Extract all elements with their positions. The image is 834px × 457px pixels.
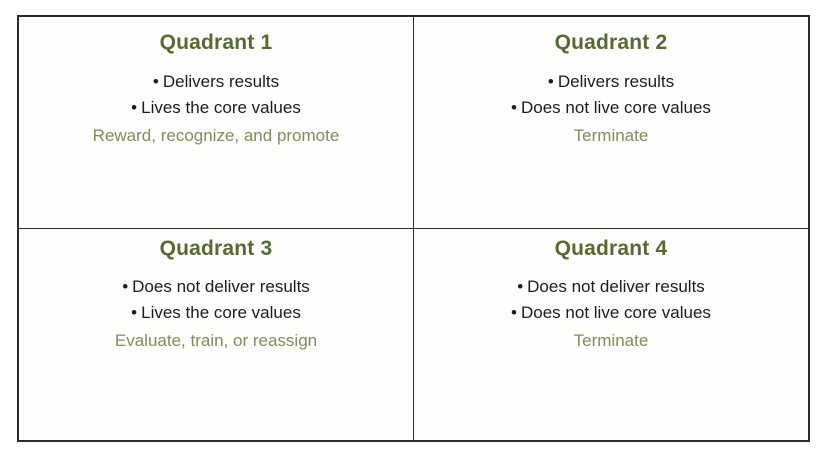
- quadrant-matrix-container: Quadrant 1 •Delivers results •Lives the …: [17, 15, 810, 442]
- quadrant-cell-4: Quadrant 4 •Does not deliver results •Do…: [414, 229, 810, 442]
- bullet-icon: •: [517, 274, 523, 300]
- criteria-text: Lives the core values: [141, 303, 301, 322]
- quadrant-cell-2: Quadrant 2 •Delivers results •Does not l…: [414, 16, 810, 229]
- criteria-item: •Delivers results: [29, 69, 403, 95]
- criteria-text: Does not live core values: [521, 98, 711, 117]
- quadrant-4-content: Quadrant 4 •Does not deliver results •Do…: [414, 229, 808, 354]
- criteria-text: Delivers results: [558, 72, 674, 91]
- criteria-item: •Does not live core values: [424, 95, 798, 121]
- quadrant-cell-3: Quadrant 3 •Does not deliver results •Li…: [18, 229, 414, 442]
- quadrant-matrix-table: Quadrant 1 •Delivers results •Lives the …: [17, 15, 810, 442]
- criteria-item: •Does not live core values: [424, 300, 798, 326]
- criteria-item: •Does not deliver results: [424, 274, 798, 300]
- quadrant-4-action: Terminate: [424, 328, 798, 354]
- bullet-icon: •: [511, 95, 517, 121]
- quadrant-2-content: Quadrant 2 •Delivers results •Does not l…: [414, 17, 808, 149]
- quadrant-3-content: Quadrant 3 •Does not deliver results •Li…: [19, 229, 413, 354]
- quadrant-1-title: Quadrant 1: [29, 31, 403, 55]
- quadrant-1-action: Reward, recognize, and promote: [29, 123, 403, 149]
- quadrant-4-title: Quadrant 4: [424, 237, 798, 261]
- bullet-icon: •: [131, 300, 137, 326]
- quadrant-3-title: Quadrant 3: [29, 237, 403, 261]
- bullet-icon: •: [131, 95, 137, 121]
- criteria-text: Does not deliver results: [132, 277, 310, 296]
- quadrant-3-action: Evaluate, train, or reassign: [29, 328, 403, 354]
- criteria-item: •Does not deliver results: [29, 274, 403, 300]
- quadrant-2-criteria-list: •Delivers results •Does not live core va…: [424, 69, 798, 121]
- quadrant-1-criteria-list: •Delivers results •Lives the core values: [29, 69, 403, 121]
- bullet-icon: •: [122, 274, 128, 300]
- bullet-icon: •: [511, 300, 517, 326]
- quadrant-3-criteria-list: •Does not deliver results •Lives the cor…: [29, 274, 403, 326]
- quadrant-2-title: Quadrant 2: [424, 31, 798, 55]
- matrix-row-bottom: Quadrant 3 •Does not deliver results •Li…: [18, 229, 809, 442]
- criteria-text: Does not live core values: [521, 303, 711, 322]
- criteria-item: •Lives the core values: [29, 300, 403, 326]
- criteria-text: Does not deliver results: [527, 277, 705, 296]
- quadrant-4-criteria-list: •Does not deliver results •Does not live…: [424, 274, 798, 326]
- matrix-row-top: Quadrant 1 •Delivers results •Lives the …: [18, 16, 809, 229]
- quadrant-1-content: Quadrant 1 •Delivers results •Lives the …: [19, 17, 413, 149]
- criteria-item: •Lives the core values: [29, 95, 403, 121]
- bullet-icon: •: [153, 69, 159, 95]
- bullet-icon: •: [548, 69, 554, 95]
- quadrant-2-action: Terminate: [424, 123, 798, 149]
- quadrant-cell-1: Quadrant 1 •Delivers results •Lives the …: [18, 16, 414, 229]
- criteria-text: Delivers results: [163, 72, 279, 91]
- criteria-text: Lives the core values: [141, 98, 301, 117]
- criteria-item: •Delivers results: [424, 69, 798, 95]
